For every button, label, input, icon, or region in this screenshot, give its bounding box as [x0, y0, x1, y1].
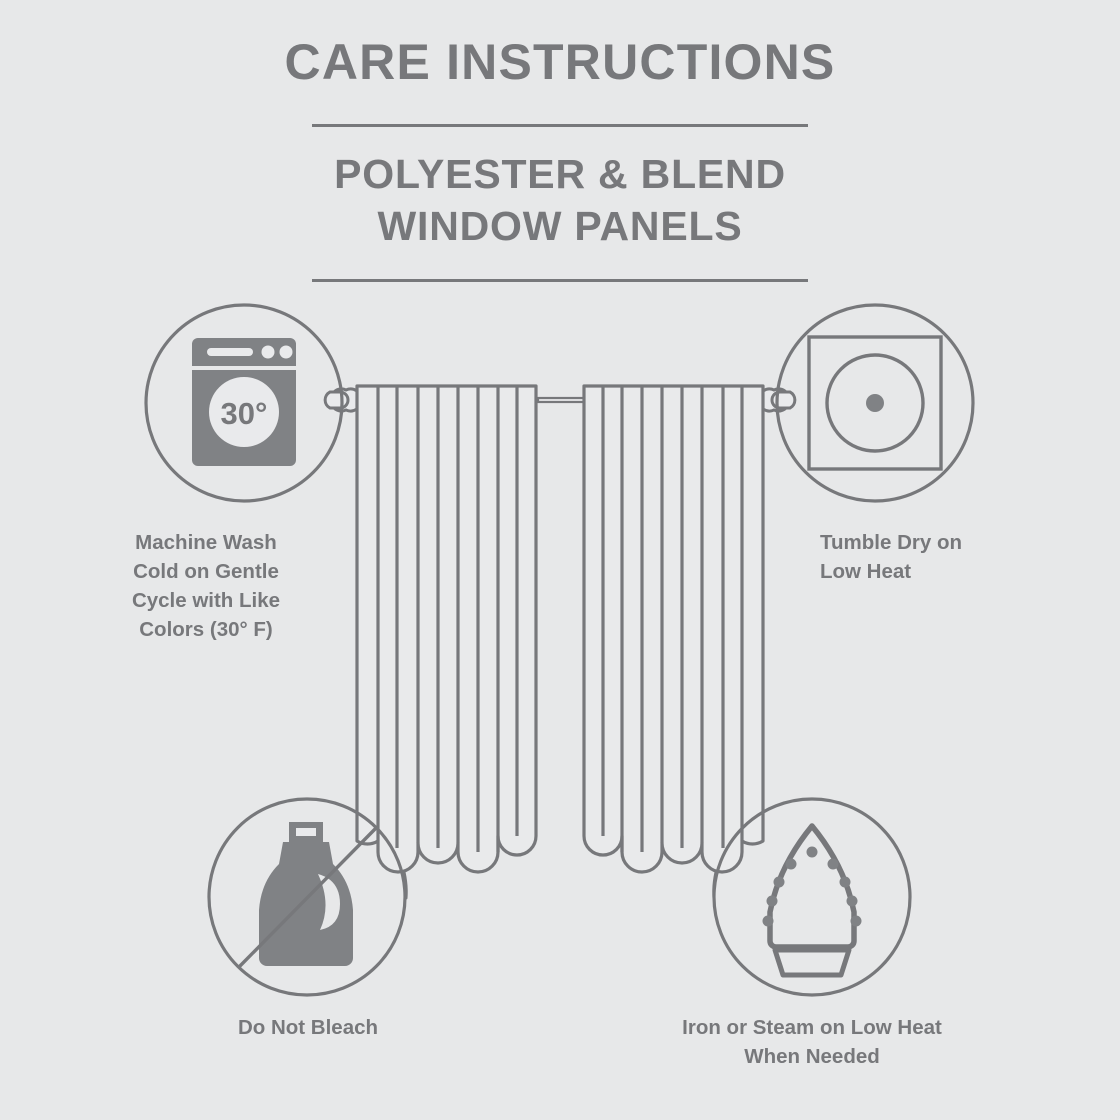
tumble-dry-icon [809, 337, 941, 469]
caption-line: Do Not Bleach [163, 1013, 453, 1042]
steam-holes [763, 847, 862, 927]
icon-machine-wash: 30° [146, 305, 342, 501]
caption-line: Tumble Dry on [820, 528, 1080, 557]
caption-line: Low Heat [820, 557, 1080, 586]
curtain-panels-on-rod [325, 386, 795, 898]
caption-line: Cold on Gentle [86, 557, 326, 586]
caption-tumble-dry: Tumble Dry on Low Heat [820, 528, 1080, 586]
caption-line: When Needed [622, 1042, 1002, 1071]
caption-line: Cycle with Like [86, 586, 326, 615]
caption-iron: Iron or Steam on Low Heat When Needed [622, 1013, 1002, 1071]
caption-line: Machine Wash [86, 528, 326, 557]
care-instructions-infographic: CARE INSTRUCTIONS POLYESTER & BLEND WIND… [0, 0, 1120, 1120]
left-curtain-panel [357, 386, 536, 898]
caption-line: Iron or Steam on Low Heat [622, 1013, 1002, 1042]
wash-temperature-badge: 30° [221, 396, 268, 431]
icon-tumble-dry [777, 305, 973, 501]
washing-machine-icon: 30° [192, 338, 296, 466]
caption-machine-wash: Machine Wash Cold on Gentle Cycle with L… [86, 528, 326, 644]
icon-iron-low-heat [714, 799, 910, 995]
right-curtain-panel [584, 386, 763, 898]
icon-do-not-bleach [209, 799, 405, 995]
caption-do-not-bleach: Do Not Bleach [163, 1013, 453, 1042]
bleach-bottle-icon [259, 822, 353, 966]
iron-icon [763, 826, 862, 975]
caption-line: Colors (30° F) [86, 615, 326, 644]
